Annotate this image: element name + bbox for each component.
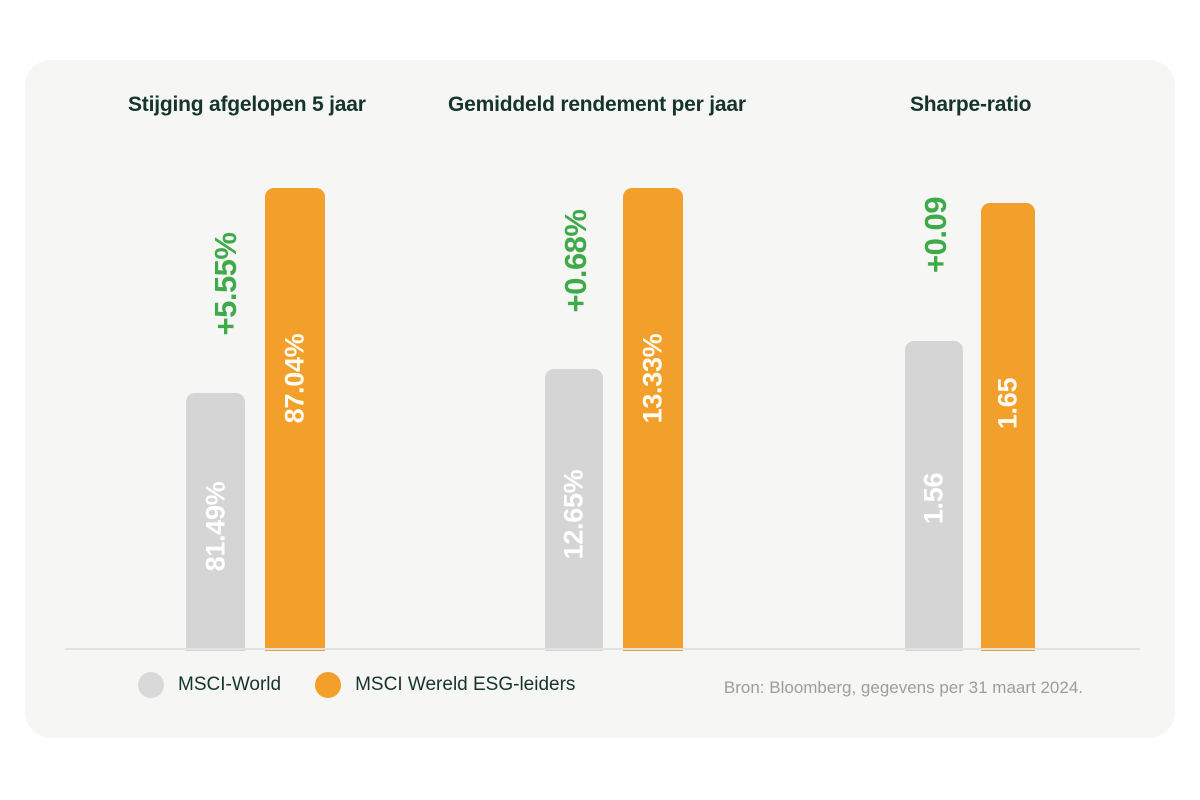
bar-group2-msci-world[interactable]: 1.56 (905, 341, 963, 651)
chart-legend: MSCI-World MSCI Wereld ESG-leiders (138, 672, 575, 698)
bar-group0-msci-world[interactable]: 81.49% (186, 393, 245, 651)
bar-value-label: 87.04% (280, 334, 311, 424)
legend-item-msci-world[interactable]: MSCI-World (138, 672, 281, 698)
legend-dot-icon (138, 672, 164, 698)
legend-label: MSCI-World (178, 674, 281, 696)
bar-value-label: 1.65 (993, 378, 1024, 429)
group-title-rendement: Gemiddeld rendement per jaar (448, 93, 746, 117)
group-title-stijging: Stijging afgelopen 5 jaar (128, 93, 366, 117)
bar-chart-plot: Stijging afgelopen 5 jaar Gemiddeld rend… (25, 60, 1175, 738)
chart-card: Stijging afgelopen 5 jaar Gemiddeld rend… (25, 60, 1175, 738)
legend-dot-icon (315, 672, 341, 698)
source-note: Bron: Bloomberg, gegevens per 31 maart 2… (724, 678, 1083, 698)
bar-group0-msci-esg[interactable]: 87.04% (265, 188, 325, 651)
bar-group2-msci-esg[interactable]: 1.65 (981, 203, 1035, 651)
legend-item-msci-esg[interactable]: MSCI Wereld ESG-leiders (315, 672, 575, 698)
bar-group1-msci-esg[interactable]: 13.33% (623, 188, 683, 651)
axis-baseline (65, 648, 1140, 650)
bar-group1-msci-world[interactable]: 12.65% (545, 369, 603, 651)
legend-label: MSCI Wereld ESG-leiders (355, 674, 575, 696)
bar-value-label: 81.49% (200, 482, 231, 572)
bar-value-label: 12.65% (559, 470, 590, 560)
delta-label-group0: +5.55% (208, 201, 244, 367)
delta-label-group1: +0.68% (558, 178, 594, 344)
bar-value-label: 1.56 (919, 473, 950, 524)
bar-value-label: 13.33% (638, 334, 669, 424)
group-title-sharpe: Sharpe-ratio (910, 93, 1031, 117)
delta-label-group2: +0.09 (918, 152, 954, 318)
